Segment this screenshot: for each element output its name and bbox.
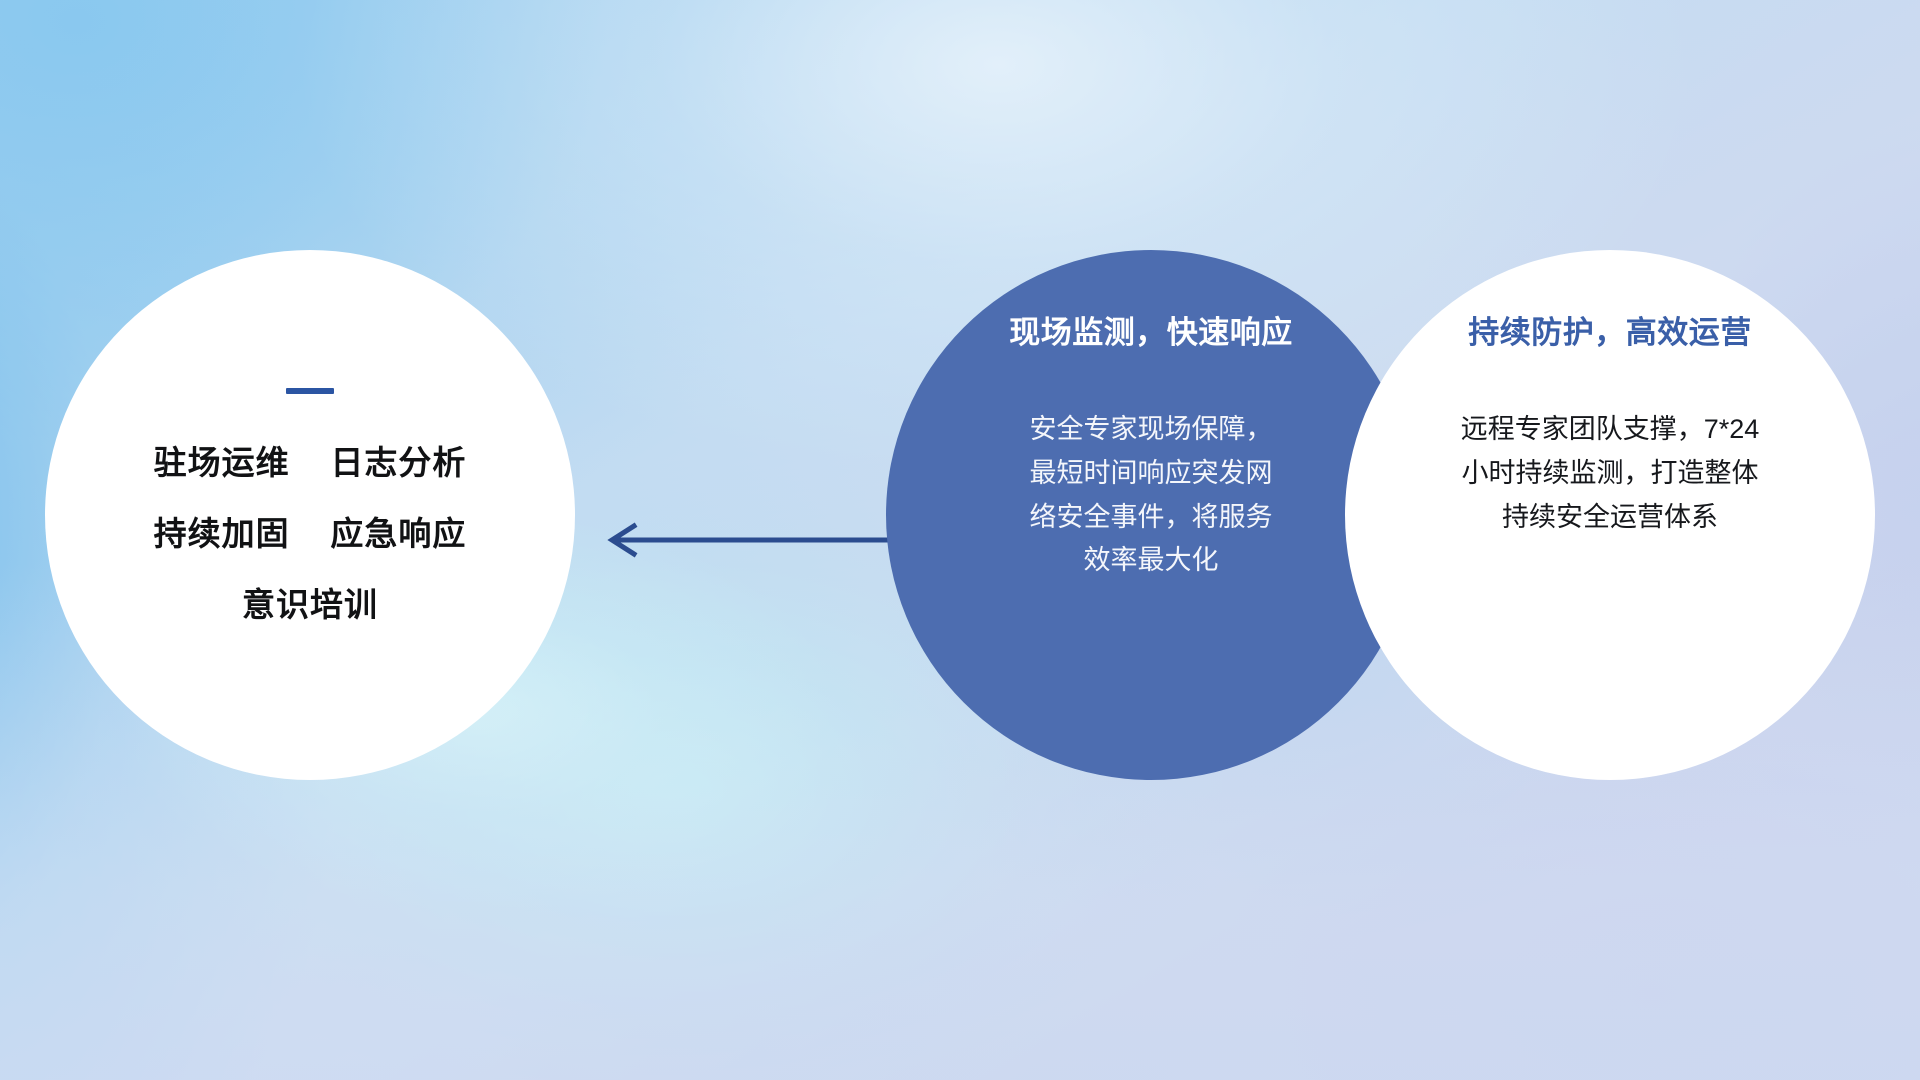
arrow-mid-to-left-icon [600,520,900,560]
circle-node-continuous-protection[interactable]: 持续防护，高效运营 远程专家团队支撑，7*24 小时持续监测，打造整体 持续安全… [1345,250,1875,780]
onsite-body-line-3: 络安全事件，将服务 [953,496,1349,540]
onsite-body-line-4: 效率最大化 [953,539,1349,583]
accent-dash-divider [286,388,334,394]
protection-body-line-2: 小时持续监测，打造整体 [1391,452,1829,496]
circle-node-capabilities[interactable]: 驻场运维 日志分析 持续加固 应急响应 意识培训 [45,250,575,780]
capabilities-line-3: 意识培训 [80,588,540,621]
capabilities-line-1: 驻场运维 日志分析 [80,446,540,479]
continuous-protection-content: 持续防护，高效运营 远程专家团队支撑，7*24 小时持续监测，打造整体 持续安全… [1375,316,1845,539]
capabilities-line-2: 持续加固 应急响应 [80,517,540,550]
continuous-protection-body: 远程专家团队支撑，7*24 小时持续监测，打造整体 持续安全运营体系 [1375,408,1845,539]
onsite-body-line-2: 最短时间响应突发网 [953,452,1349,496]
onsite-monitoring-title: 现场监测，快速响应 [931,316,1371,350]
slide-canvas: 驻场运维 日志分析 持续加固 应急响应 意识培训 现场监测，快速响应 安全专家现… [0,0,1920,1080]
protection-body-line-1: 远程专家团队支撑，7*24 [1391,408,1829,452]
onsite-body-line-1: 安全专家现场保障， [953,408,1349,452]
protection-body-line-3: 持续安全运营体系 [1391,496,1829,540]
circle-node-onsite-monitoring[interactable]: 现场监测，快速响应 安全专家现场保障， 最短时间响应突发网 络安全事件，将服务 … [886,250,1416,780]
capabilities-content: 驻场运维 日志分析 持续加固 应急响应 意识培训 [80,388,540,621]
continuous-protection-title: 持续防护，高效运营 [1375,316,1845,350]
onsite-monitoring-body: 安全专家现场保障， 最短时间响应突发网 络安全事件，将服务 效率最大化 [931,408,1371,583]
onsite-monitoring-content: 现场监测，快速响应 安全专家现场保障， 最短时间响应突发网 络安全事件，将服务 … [931,316,1371,583]
